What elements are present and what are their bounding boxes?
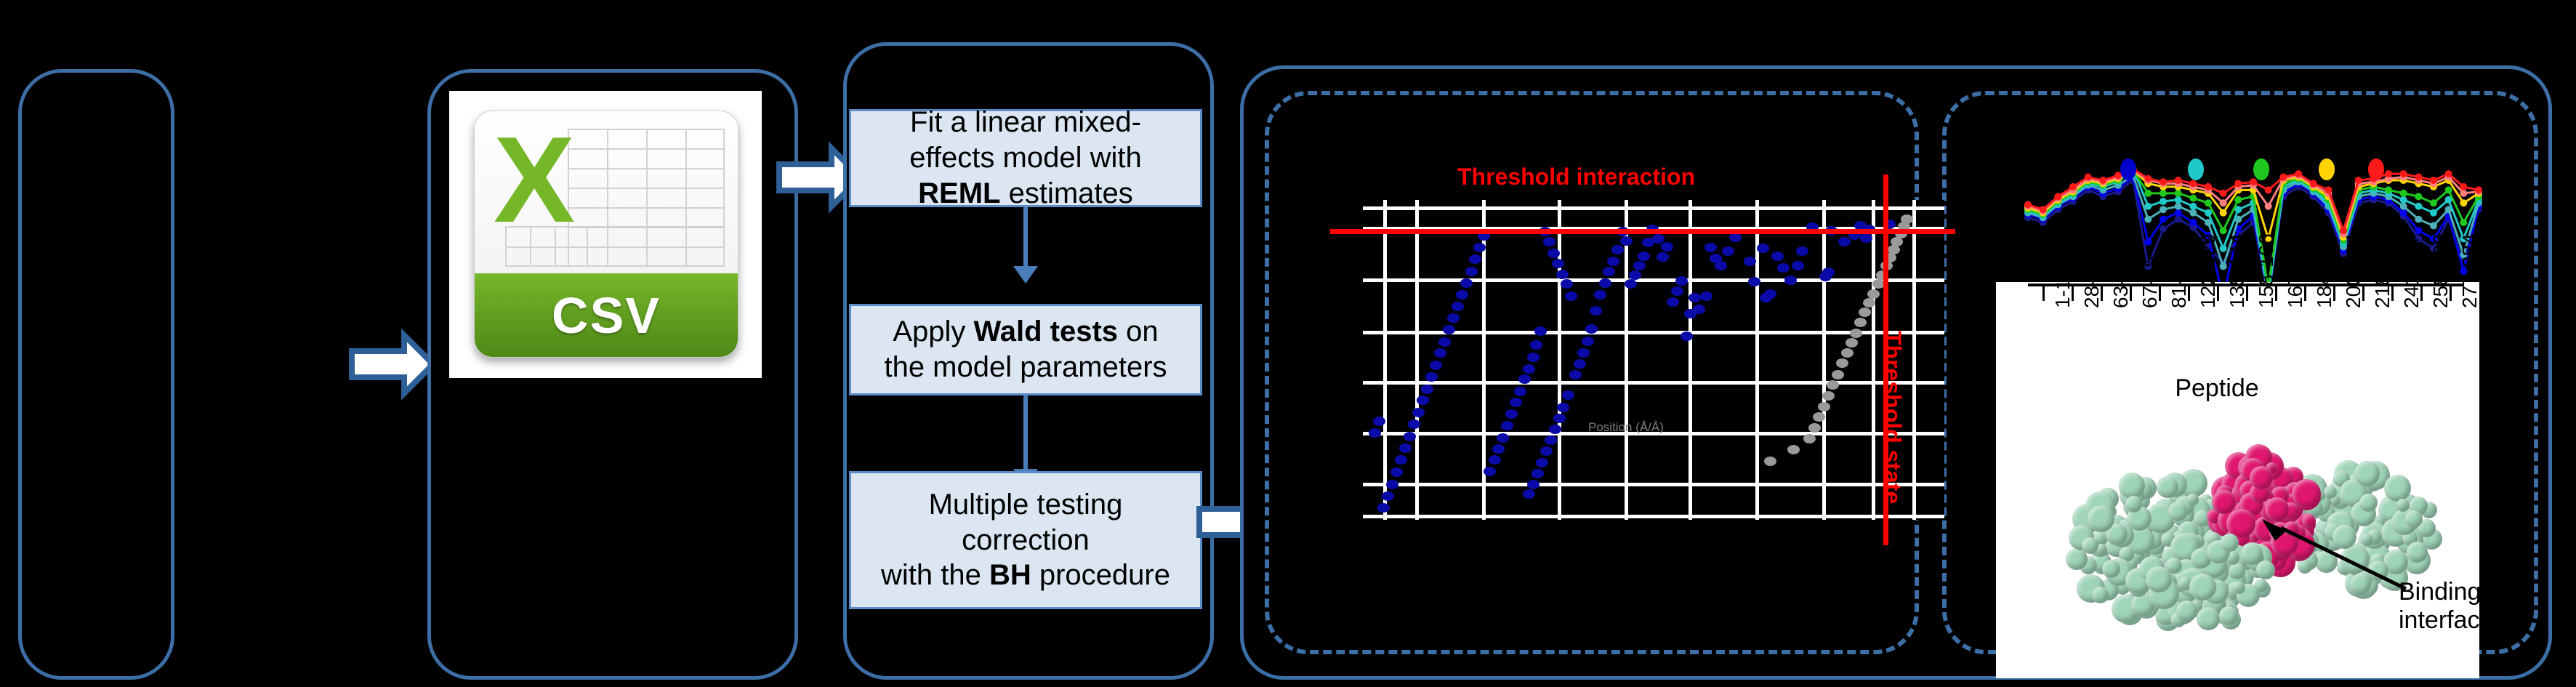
protein-surface-blob bbox=[2396, 499, 2410, 512]
protein-surface-blob bbox=[2102, 560, 2120, 578]
scatter-point-significant bbox=[1489, 455, 1501, 465]
scatter-point-significant bbox=[1434, 348, 1446, 358]
scatter-point-significant bbox=[1531, 469, 1544, 478]
scatter-point-significant bbox=[1543, 237, 1555, 246]
scatter-point-significant bbox=[1796, 246, 1808, 256]
protein-surface-blob bbox=[2384, 475, 2411, 502]
peptide-tick-label: 67-75 bbox=[2138, 256, 2162, 308]
protein-surface-blob bbox=[2166, 558, 2182, 574]
scatter-point-significant bbox=[1545, 435, 1557, 445]
epitope-surface-blob bbox=[2212, 490, 2236, 514]
input-panel bbox=[18, 69, 174, 680]
scatter-point-significant bbox=[1399, 443, 1412, 453]
scatter-point-nonsignificant bbox=[1832, 370, 1844, 379]
protein-surface-blob bbox=[2092, 587, 2109, 603]
scatter-point-significant bbox=[1386, 480, 1398, 489]
peptide-tick-label: 241-257 bbox=[2400, 233, 2423, 308]
scatter-point-nonsignificant bbox=[1818, 402, 1830, 411]
scatter-point-significant bbox=[1510, 398, 1522, 407]
scatter-point-significant bbox=[1582, 337, 1594, 346]
scatter-point-significant bbox=[1395, 455, 1407, 465]
scatter-point-significant bbox=[1421, 385, 1433, 394]
scatter-point-significant bbox=[1430, 361, 1442, 370]
peptide-tick-label: 167-180 bbox=[2284, 233, 2307, 308]
scatter-point-nonsignificant bbox=[1867, 289, 1880, 299]
scatter-point-significant bbox=[1390, 467, 1403, 477]
scatter-point-significant bbox=[1382, 491, 1394, 501]
scatter-point-significant bbox=[1447, 313, 1460, 323]
scatter-point-significant bbox=[1369, 428, 1381, 438]
scatter-point-significant bbox=[1404, 432, 1416, 441]
scatter-point-significant bbox=[1681, 332, 1693, 341]
scatter-point-nonsignificant bbox=[1764, 457, 1776, 466]
scatter-point-significant bbox=[1590, 306, 1602, 316]
peptide-tick-label: 1-15 bbox=[2051, 268, 2074, 308]
binding-interface-arrow bbox=[2253, 516, 2413, 596]
scatter-point-significant bbox=[1527, 353, 1539, 362]
scatter-point-significant bbox=[1704, 243, 1717, 252]
protein-surface-blob bbox=[2119, 473, 2145, 499]
protein-surface-blob bbox=[2189, 574, 2216, 600]
scatter-point-significant bbox=[1611, 245, 1624, 254]
scatter-point-significant bbox=[1657, 252, 1669, 262]
scatter-gridline-v bbox=[1689, 200, 1692, 520]
scatter-point-significant bbox=[1638, 252, 1650, 261]
scatter-point-significant bbox=[1620, 236, 1633, 246]
protein-surface-blob bbox=[2233, 582, 2245, 594]
scatter-point-significant bbox=[1484, 467, 1496, 476]
scatter-point-significant bbox=[1565, 292, 1577, 301]
scatter-point-significant bbox=[1530, 340, 1542, 350]
step-fit-model: Fit a linear mixed-effects model withREM… bbox=[849, 109, 1202, 207]
scatter-point-significant bbox=[1523, 364, 1535, 374]
scatter-point-significant bbox=[1792, 261, 1804, 270]
epitope-surface-blob bbox=[2250, 466, 2273, 489]
scatter-point-nonsignificant bbox=[1863, 298, 1875, 308]
scatter-gridline-h bbox=[1363, 483, 1944, 486]
protein-surface-blob bbox=[2324, 486, 2337, 499]
scatter-point-nonsignificant bbox=[1803, 434, 1816, 443]
scatter-point-significant bbox=[1661, 242, 1673, 252]
scatter-point-significant bbox=[1748, 277, 1760, 286]
legend-marker-timepoint-3 bbox=[2253, 158, 2269, 180]
scatter-point-significant bbox=[1569, 370, 1582, 379]
scatter-point-significant bbox=[1536, 458, 1548, 467]
scatter-point-significant bbox=[1438, 337, 1451, 347]
peptide-tick-label: 122-129 bbox=[2197, 233, 2220, 308]
legend-marker-timepoint-2 bbox=[2188, 158, 2204, 180]
scatter-point-significant bbox=[1473, 243, 1486, 252]
connector-1-arrowhead bbox=[1013, 266, 1038, 284]
scatter-point-significant bbox=[1527, 480, 1539, 489]
scatter-gridline-v bbox=[1822, 200, 1826, 520]
peptide-tick-label: 158-166 bbox=[2255, 233, 2278, 308]
threshold-state-label: Threshold state bbox=[1879, 331, 1906, 504]
peptide-tick-label: 277-284 bbox=[2458, 233, 2482, 308]
scatter-point-significant bbox=[1633, 261, 1646, 270]
scatter-point-significant bbox=[1377, 503, 1390, 513]
scatter-point-significant bbox=[1497, 433, 1509, 443]
scatter-point-nonsignificant bbox=[1787, 445, 1800, 454]
protein-surface-blob bbox=[2125, 496, 2142, 513]
scatter-point-significant bbox=[1667, 297, 1679, 307]
peptide-tick-label: 200-214 bbox=[2342, 233, 2365, 308]
scatter-point-significant bbox=[1523, 489, 1535, 499]
legend-marker-timepoint-5 bbox=[2368, 158, 2384, 180]
connector-2 bbox=[1023, 395, 1028, 470]
scatter-point-significant bbox=[1838, 237, 1851, 246]
step-multiple-testing-text: Multiple testingcorrectionwith the BH pr… bbox=[881, 487, 1170, 593]
scatter-point-nonsignificant bbox=[1850, 329, 1862, 338]
scatter-point-significant bbox=[1456, 290, 1468, 300]
scatter-point-significant bbox=[1574, 359, 1586, 369]
scatter-point-significant bbox=[1603, 267, 1615, 276]
scatter-point-significant bbox=[1607, 257, 1619, 266]
scatter-point-significant bbox=[1505, 409, 1518, 419]
scatter-point-nonsignificant bbox=[1846, 338, 1858, 347]
scatter-point-significant bbox=[1684, 309, 1696, 318]
scatter-point-nonsignificant bbox=[1822, 391, 1835, 401]
peptide-tick-label: 135-144 bbox=[2226, 233, 2249, 308]
scatter-point-significant bbox=[1671, 286, 1683, 296]
scatter-point-significant bbox=[1757, 244, 1769, 253]
scatter-point-significant bbox=[1552, 259, 1564, 268]
step-multiple-testing: Multiple testingcorrectionwith the BH pr… bbox=[849, 471, 1202, 609]
scatter-point-significant bbox=[1549, 425, 1561, 434]
scatter-point-significant bbox=[1722, 246, 1734, 256]
scatter-point-significant bbox=[1771, 252, 1784, 261]
scatter-point-significant bbox=[1460, 278, 1473, 288]
peptide-tick-label: 184-199 bbox=[2313, 233, 2336, 308]
scatter-point-significant bbox=[1469, 254, 1481, 264]
peptide-tick-label: 28-44 bbox=[2080, 256, 2104, 308]
scatter-gridline-v bbox=[1625, 200, 1628, 520]
protein-surface-blob bbox=[2219, 606, 2238, 625]
scatter-point-significant bbox=[1553, 414, 1566, 423]
scatter-point-significant bbox=[1452, 302, 1464, 311]
scatter-point-significant bbox=[1577, 348, 1590, 358]
protein-surface-blob bbox=[2229, 563, 2245, 579]
scatter-point-significant bbox=[1860, 233, 1872, 243]
scatter-point-nonsignificant bbox=[1859, 308, 1871, 317]
scatter-gridline-v bbox=[1415, 200, 1419, 520]
protein-surface-blob bbox=[2176, 600, 2197, 622]
step-wald-tests: Apply Wald tests onthe model parameters bbox=[849, 304, 1202, 395]
excel-x-letter: X bbox=[494, 118, 575, 241]
scatter-point-significant bbox=[1417, 395, 1429, 405]
scatter-gridline-v bbox=[1558, 200, 1561, 520]
scatter-point-significant bbox=[1700, 292, 1712, 301]
peptide-tick-label: 218-237 bbox=[2371, 233, 2394, 308]
arrow-input-to-data bbox=[349, 331, 436, 398]
peptide-xaxis-label: Peptide bbox=[2122, 374, 2311, 403]
legend-marker-timepoint-1 bbox=[2120, 158, 2136, 180]
connector-1 bbox=[1023, 207, 1028, 268]
threshold-interaction-label: Threshold interaction bbox=[1457, 164, 1695, 190]
volcano-threshold-scatter bbox=[1363, 200, 1944, 520]
scatter-point-significant bbox=[1642, 238, 1654, 247]
scatter-point-significant bbox=[1412, 408, 1425, 417]
scatter-point-significant bbox=[1625, 279, 1637, 289]
scatter-point-significant bbox=[1547, 249, 1560, 258]
epitope-surface-blob bbox=[2292, 479, 2321, 508]
scatter-point-significant bbox=[1514, 387, 1526, 396]
scatter-point-significant bbox=[1819, 272, 1832, 281]
peptide-tick bbox=[2042, 284, 2045, 301]
scatter-point-significant bbox=[1689, 293, 1701, 302]
scatter-point-significant bbox=[1562, 390, 1574, 400]
scatter-gridline-h bbox=[1363, 515, 1944, 518]
scatter-point-significant bbox=[1540, 446, 1553, 456]
scatter-point-significant bbox=[1465, 267, 1478, 276]
scatter-point-significant bbox=[1557, 403, 1569, 412]
step-fit-model-text: Fit a linear mixed-effects model withREM… bbox=[909, 105, 1141, 211]
scatter-gridline-v bbox=[1383, 200, 1387, 520]
scatter-point-significant bbox=[1492, 444, 1505, 454]
scatter-point-nonsignificant bbox=[1836, 358, 1848, 368]
scatter-gridline-v bbox=[1872, 200, 1875, 520]
scatter-point-significant bbox=[1534, 326, 1547, 336]
scatter-point-significant bbox=[1594, 290, 1606, 300]
scatter-point-significant bbox=[1784, 276, 1797, 285]
scatter-point-significant bbox=[1561, 279, 1573, 289]
scatter-point-significant bbox=[1675, 276, 1688, 286]
csv-format-label: CSV bbox=[475, 286, 738, 345]
scatter-point-significant bbox=[1373, 417, 1385, 426]
step-wald-tests-text: Apply Wald tests onthe model parameters bbox=[884, 314, 1167, 385]
scatter-xaxis-ghost-label: Position (Å/Å) bbox=[1588, 420, 1664, 435]
scatter-point-significant bbox=[1760, 293, 1772, 302]
protein-surface-blob bbox=[2197, 607, 2220, 630]
peptide-chart-legend bbox=[2028, 158, 2479, 182]
scatter-point-significant bbox=[1710, 254, 1722, 263]
scatter-point-nonsignificant bbox=[1841, 348, 1853, 358]
peptide-tick-label: 81-101 bbox=[2168, 245, 2191, 308]
peptide-tick-label: 63-73 bbox=[2109, 256, 2133, 308]
scatter-point-significant bbox=[1744, 257, 1756, 266]
scatter-point-significant bbox=[1629, 270, 1641, 280]
protein-surface-blob bbox=[2157, 476, 2178, 498]
scatter-point-significant bbox=[1777, 263, 1790, 273]
csv-file-icon: X CSV bbox=[474, 111, 738, 358]
threshold-interaction-line bbox=[1330, 229, 1955, 234]
legend-marker-timepoint-4 bbox=[2319, 158, 2335, 180]
scatter-point-significant bbox=[1599, 278, 1611, 288]
scatter-point-nonsignificant bbox=[1827, 380, 1839, 390]
scatter-point-significant bbox=[1556, 270, 1569, 279]
scatter-point-significant bbox=[1501, 421, 1513, 430]
scatter-gridline-h bbox=[1363, 278, 1944, 282]
scatter-gridline-h bbox=[1363, 206, 1944, 210]
peptide-tick-label: 258-266 bbox=[2429, 233, 2452, 308]
scatter-gridline-v bbox=[1912, 200, 1916, 520]
csv-format-band: CSV bbox=[475, 273, 738, 357]
scatter-gridline-h bbox=[1363, 381, 1944, 385]
scatter-point-nonsignificant bbox=[1854, 318, 1867, 327]
